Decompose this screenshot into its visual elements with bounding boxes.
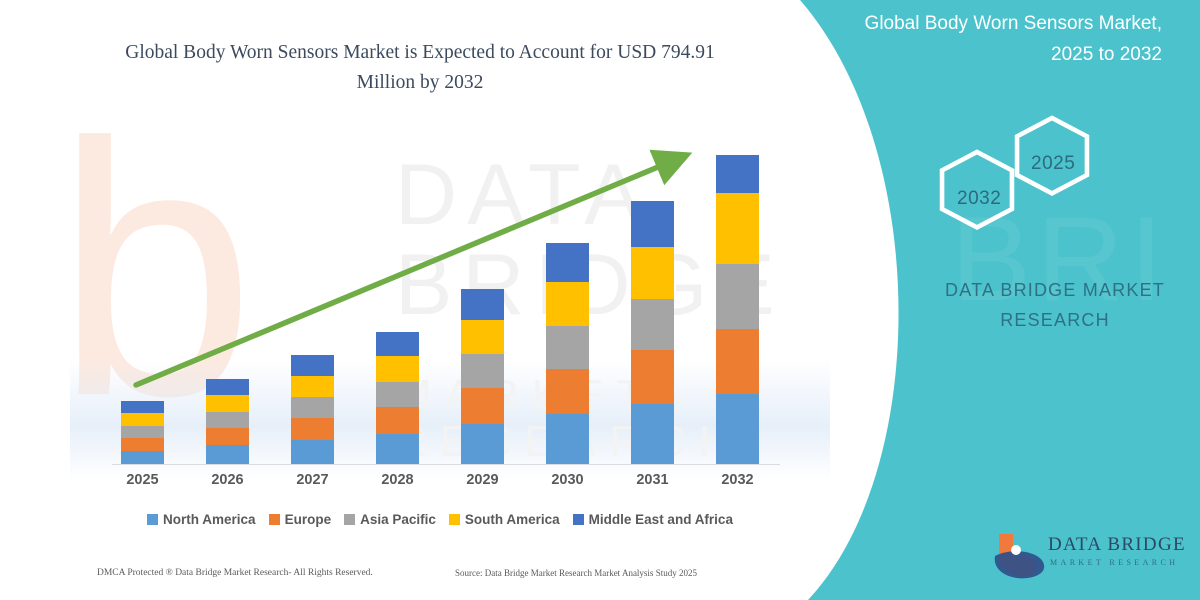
bar-segment (546, 369, 589, 414)
x-axis-tick-label: 2025 (100, 472, 185, 488)
bar-segment (631, 299, 674, 350)
legend-label: Europe (285, 512, 332, 527)
footer-source: Source: Data Bridge Market Research Mark… (455, 568, 697, 578)
x-axis-line (112, 464, 780, 465)
bar-column (440, 140, 525, 464)
legend-swatch-icon (269, 514, 280, 525)
bar-segment (206, 395, 249, 412)
bar-segment (631, 201, 674, 247)
bar-segment (461, 354, 504, 388)
legend-swatch-icon (344, 514, 355, 525)
bar-segment (376, 356, 419, 382)
footer-copyright: DMCA Protected ® Data Bridge Market Rese… (97, 568, 373, 578)
legend-label: Middle East and Africa (589, 512, 733, 527)
x-axis-tick-label: 2032 (695, 472, 780, 488)
stacked-bar-chart (100, 140, 780, 465)
legend-swatch-icon (573, 514, 584, 525)
panel-title-line2: 2025 to 2032 (832, 39, 1162, 70)
bar-segment (461, 320, 504, 354)
stacked-bar (631, 201, 674, 464)
x-axis-tick-label: 2028 (355, 472, 440, 488)
bar-segment (291, 376, 334, 397)
panel-title-line1: Global Body Worn Sensors Market, (832, 8, 1162, 39)
x-axis-tick-label: 2027 (270, 472, 355, 488)
bar-segment (376, 434, 419, 464)
legend-label: Asia Pacific (360, 512, 436, 527)
bar-column (270, 140, 355, 464)
legend-item[interactable]: Middle East and Africa (573, 512, 733, 527)
bar-column (100, 140, 185, 464)
bar-segment (206, 412, 249, 428)
bar-segment (376, 332, 419, 356)
legend-swatch-icon (449, 514, 460, 525)
bar-segment (291, 355, 334, 376)
bar-segment (461, 388, 504, 424)
bar-segment (461, 424, 504, 464)
bar-segment (206, 379, 249, 395)
bar-group (100, 140, 780, 464)
bar-segment (461, 289, 504, 320)
bar-segment (121, 426, 164, 438)
bar-segment (631, 350, 674, 404)
bar-column (525, 140, 610, 464)
bar-segment (546, 326, 589, 369)
bar-segment (716, 394, 759, 464)
bar-segment (716, 264, 759, 329)
bar-segment (121, 451, 164, 464)
legend-item[interactable]: South America (449, 512, 560, 527)
legend-item[interactable]: North America (147, 512, 256, 527)
bar-segment (631, 404, 674, 464)
logo-main-text: DATA BRIDGE (1048, 534, 1186, 556)
stacked-bar (376, 332, 419, 464)
x-axis-tick-label: 2026 (185, 472, 270, 488)
bar-segment (546, 414, 589, 464)
chart-legend: North AmericaEuropeAsia PacificSouth Ame… (100, 512, 780, 527)
hexagon-shapes (915, 110, 1115, 235)
bar-segment (546, 282, 589, 326)
bar-segment (206, 428, 249, 445)
stacked-bar (291, 355, 334, 464)
x-axis-tick-label: 2031 (610, 472, 695, 488)
hexagon-label-2025: 2025 (1031, 153, 1075, 175)
bar-segment (206, 445, 249, 464)
bar-column (610, 140, 695, 464)
bar-segment (291, 418, 334, 440)
legend-label: North America (163, 512, 256, 527)
page-title: Global Body Worn Sensors Market is Expec… (110, 38, 730, 98)
bar-column (355, 140, 440, 464)
bar-segment (376, 382, 419, 407)
bar-segment (716, 155, 759, 193)
x-axis-tick-label: 2029 (440, 472, 525, 488)
legend-label: South America (465, 512, 560, 527)
page-title-line1: Global Body Worn Sensors Market is Expec… (125, 42, 612, 63)
legend-swatch-icon (147, 514, 158, 525)
bar-segment (291, 397, 334, 418)
logo-sub-text: MARKET RESEARCH (1050, 558, 1178, 567)
bar-column (185, 140, 270, 464)
footer: DMCA Protected ® Data Bridge Market Rese… (0, 568, 800, 590)
bar-segment (121, 401, 164, 413)
stacked-bar (716, 155, 759, 464)
hexagon-pair: 2025 2032 (915, 110, 1115, 235)
bar-segment (631, 247, 674, 299)
panel-brand-line2: RESEARCH (930, 305, 1180, 335)
bar-segment (121, 413, 164, 426)
bar-segment (716, 329, 759, 394)
panel-title: Global Body Worn Sensors Market, 2025 to… (832, 8, 1162, 70)
legend-item[interactable]: Europe (269, 512, 332, 527)
panel-brand-line1: DATA BRIDGE MARKET (930, 275, 1180, 305)
bar-segment (121, 438, 164, 451)
bar-segment (716, 193, 759, 264)
stacked-bar (206, 379, 249, 464)
bar-segment (546, 243, 589, 282)
infographic-canvas: b DATA BRIDGE MARKET RESEARCH BRI Global… (0, 0, 1200, 600)
stacked-bar (461, 289, 504, 464)
x-axis-labels: 20252026202720282029203020312032 (100, 472, 780, 488)
x-axis-tick-label: 2030 (525, 472, 610, 488)
bar-segment (291, 440, 334, 464)
hexagon-label-2032: 2032 (957, 188, 1001, 210)
stacked-bar (546, 243, 589, 464)
bar-column (695, 140, 780, 464)
stacked-bar (121, 401, 164, 464)
panel-brand-text: DATA BRIDGE MARKET RESEARCH (930, 275, 1180, 335)
bar-segment (376, 407, 419, 434)
legend-item[interactable]: Asia Pacific (344, 512, 436, 527)
